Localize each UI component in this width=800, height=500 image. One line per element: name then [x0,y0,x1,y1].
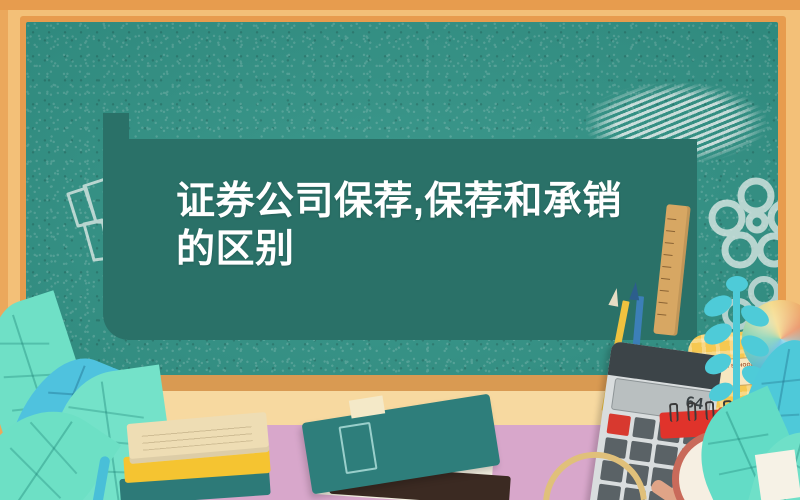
illustration-canvas: 证券公司保荐,保荐和承销 的区别 [0,0,800,500]
paper-sheet-right [755,449,800,500]
paintbrush-tip [629,282,641,301]
page-title-line-2: 的区别 [176,226,696,274]
page-title-line-1: 证券公司保荐,保荐和承销 [176,178,696,226]
page-title: 证券公司保荐,保荐和承销 的区别 [176,178,696,274]
